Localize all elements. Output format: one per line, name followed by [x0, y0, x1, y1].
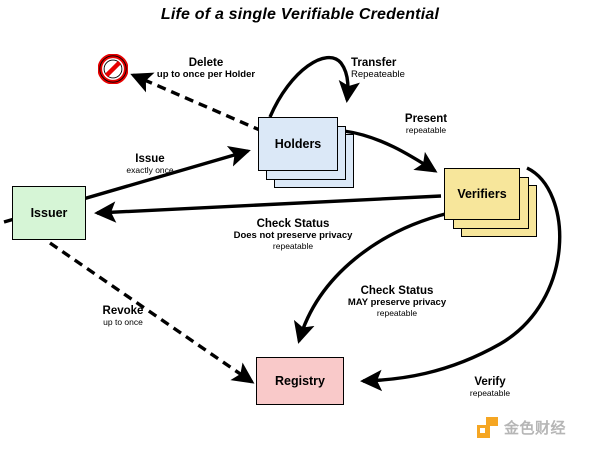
node-verifiers[interactable]: Verifiers — [444, 168, 520, 220]
edge-label-transfer-title: Transfer — [351, 57, 451, 70]
prohibition-icon — [98, 54, 128, 84]
edge-present-arrow — [344, 131, 435, 171]
node-holders[interactable]: Holders — [258, 117, 338, 171]
edge-label-check-status-registry-title: Check Status — [321, 285, 473, 298]
node-registry-label: Registry — [275, 374, 325, 388]
edge-label-verify: Verify repeatable — [448, 376, 532, 398]
edge-label-revoke-sub1: up to once — [77, 318, 169, 328]
edge-label-delete-sub1: up to once per Holder — [143, 70, 269, 81]
edge-delete-arrow — [133, 75, 262, 131]
edge-transfer-arrow — [270, 58, 348, 117]
edge-label-issue: Issue exactly once — [104, 153, 196, 175]
edge-label-check-status-registry-sub2: repeatable — [321, 309, 473, 319]
edge-check-status-issuer-arrow — [97, 196, 441, 213]
edge-label-check-status-registry: Check Status MAY preserve privacy repeat… — [321, 285, 473, 318]
edge-label-delete-title: Delete — [143, 57, 269, 70]
edge-label-check-status-registry-sub1: MAY preserve privacy — [321, 298, 473, 309]
node-issuer[interactable]: Issuer — [12, 186, 86, 240]
watermark-text: 金色财经 — [504, 417, 566, 438]
edge-label-revoke: Revoke up to once — [77, 305, 169, 327]
diagram-canvas: Life of a single Verifiable Credential — [0, 0, 600, 450]
edge-label-verify-sub1: repeatable — [448, 389, 532, 399]
watermark-logo-icon — [477, 417, 498, 438]
node-verifiers-label: Verifiers — [457, 187, 506, 201]
watermark: 金色财经 — [477, 414, 589, 440]
edge-label-check-status-issuer-sub1: Does not preserve privacy — [213, 231, 373, 242]
edge-label-check-status-issuer-sub2: repeatable — [213, 242, 373, 252]
edge-label-present-title: Present — [381, 113, 471, 126]
edge-label-transfer: Transfer Repeateable — [351, 57, 451, 81]
edge-label-check-status-issuer-title: Check Status — [213, 218, 373, 231]
edge-label-present-sub1: repeatable — [381, 126, 471, 136]
edge-label-transfer-sub1: Repeateable — [351, 70, 451, 81]
edge-label-check-status-issuer: Check Status Does not preserve privacy r… — [213, 218, 373, 251]
node-issuer-label: Issuer — [31, 206, 68, 220]
edge-label-issue-sub1: exactly once — [104, 166, 196, 176]
node-holders-label: Holders — [275, 137, 322, 151]
node-registry[interactable]: Registry — [256, 357, 344, 405]
edge-label-verify-title: Verify — [448, 376, 532, 389]
edge-label-delete: Delete up to once per Holder — [143, 57, 269, 81]
edge-label-issue-title: Issue — [104, 153, 196, 166]
edge-label-revoke-title: Revoke — [77, 305, 169, 318]
edge-label-present: Present repeatable — [381, 113, 471, 135]
